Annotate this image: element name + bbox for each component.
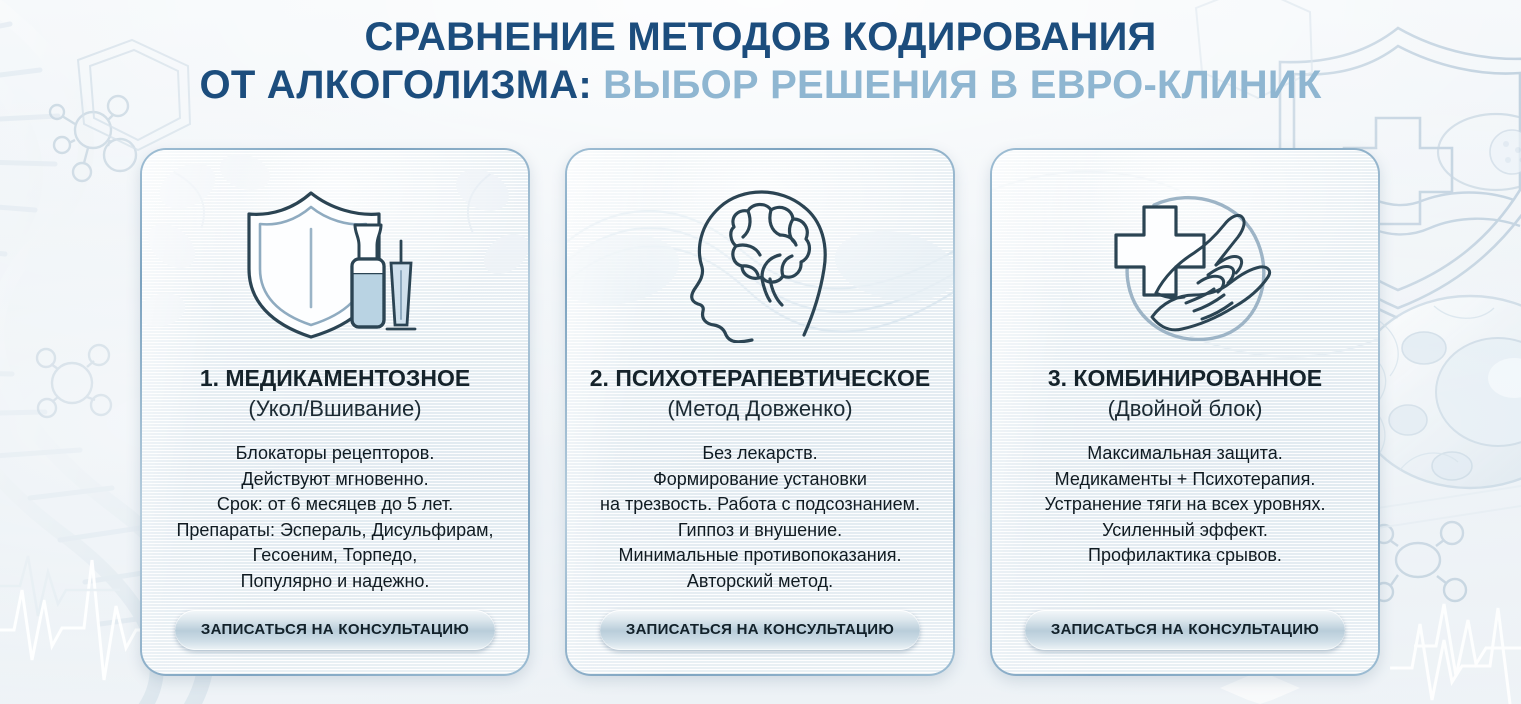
page-title: СРАВНЕНИЕ МЕТОДОВ КОДИРОВАНИЯ ОТ АЛКОГОЛ… — [0, 16, 1521, 107]
cross-helping-hands-icon — [992, 150, 1378, 366]
card-body-line: Препараты: Эспераль, Дисульфирам, — [176, 518, 493, 544]
method-card-psychotherapeutic: 2. ПСИХОТЕРАПЕВТИЧЕСКОЕ (Метод Довженко)… — [565, 148, 955, 676]
card-title: 1. МЕДИКАМЕНТОЗНОЕ — [192, 366, 478, 392]
card-body-line: Профилактика срывов. — [1044, 543, 1325, 569]
page-title-line-2-light: ВЫБОР РЕШЕНИЯ В ЕВРО-КЛИНИК — [603, 63, 1321, 107]
card-body-line: Минимальные противопоказания. — [600, 543, 920, 569]
card-body: Без лекарств. Формирование установки на … — [594, 441, 926, 610]
method-cards: 1. МЕДИКАМЕНТОЗНОЕ (Укол/Вшивание) Блока… — [140, 148, 1380, 676]
card-body-line: Гиппоз и внушение. — [600, 518, 920, 544]
card-body-line: на трезвость. Работа с подсознанием. — [600, 492, 920, 518]
method-card-medicamentous: 1. МЕДИКАМЕНТОЗНОЕ (Укол/Вшивание) Блока… — [140, 148, 530, 676]
card-body: Блокаторы рецепторов. Действуют мгновенн… — [170, 441, 499, 610]
infographic-banner: СРАВНЕНИЕ МЕТОДОВ КОДИРОВАНИЯ ОТ АЛКОГОЛ… — [0, 0, 1521, 704]
method-card-combined: 3. КОМБИНИРОВАННОЕ (Двойной блок) Максим… — [990, 148, 1380, 676]
card-body-line: Блокаторы рецепторов. — [176, 441, 493, 467]
head-brain-icon — [567, 150, 953, 366]
shield-ampoule-syringe-icon — [142, 150, 528, 366]
card-subtitle: (Метод Довженко) — [667, 396, 852, 421]
page-title-line-2-dark: ОТ АЛКОГОЛИЗМА: — [200, 63, 592, 107]
consultation-button[interactable]: ЗАПИСАТЬСЯ НА КОНСУЛЬТАЦИЮ — [1025, 610, 1345, 650]
page-title-line-1: СРАВНЕНИЕ МЕТОДОВ КОДИРОВАНИЯ — [0, 16, 1521, 58]
card-body-line: Без лекарств. — [600, 441, 920, 467]
card-subtitle: (Укол/Вшивание) — [248, 396, 421, 421]
molecule-icon — [50, 96, 136, 181]
card-body-line: Авторский метод. — [600, 569, 920, 595]
card-body-line: Действуют мгновенно. — [176, 467, 493, 493]
consultation-button[interactable]: ЗАПИСАТЬСЯ НА КОНСУЛЬТАЦИЮ — [175, 610, 495, 650]
card-body-line: Гесоеним, Торпедо, — [176, 543, 493, 569]
card-title: 2. ПСИХОТЕРАПЕВТИЧЕСКОЕ — [582, 366, 938, 392]
molecule-icon — [37, 345, 111, 417]
card-body-line: Медикаменты + Психотерапия. — [1044, 467, 1325, 493]
card-body-line: Усиленный эффект. — [1044, 518, 1325, 544]
molecule-icon — [1375, 522, 1466, 601]
card-title: 3. КОМБИНИРОВАННОЕ — [1040, 366, 1330, 392]
card-body-line: Формирование установки — [600, 467, 920, 493]
cell-icon — [1438, 114, 1521, 190]
card-body: Максимальная защита. Медикаменты + Психо… — [1038, 441, 1331, 610]
ecg-line-icon — [0, 556, 120, 616]
card-body-line: Срок: от 6 месяцев до 5 лет. — [176, 492, 493, 518]
page-title-line-2: ОТ АЛКОГОЛИЗМА: ВЫБОР РЕШЕНИЯ В ЕВРО-КЛИ… — [0, 64, 1521, 106]
card-subtitle: (Двойной блок) — [1108, 396, 1263, 421]
consultation-button[interactable]: ЗАПИСАТЬСЯ НА КОНСУЛЬТАЦИЮ — [600, 610, 920, 650]
card-body-line: Популярно и надежно. — [176, 569, 493, 595]
card-body-line: Устранение тяги на всех уровнях. — [1044, 492, 1325, 518]
ecg-line-icon — [1390, 604, 1521, 704]
card-body-line: Максимальная защита. — [1044, 441, 1325, 467]
